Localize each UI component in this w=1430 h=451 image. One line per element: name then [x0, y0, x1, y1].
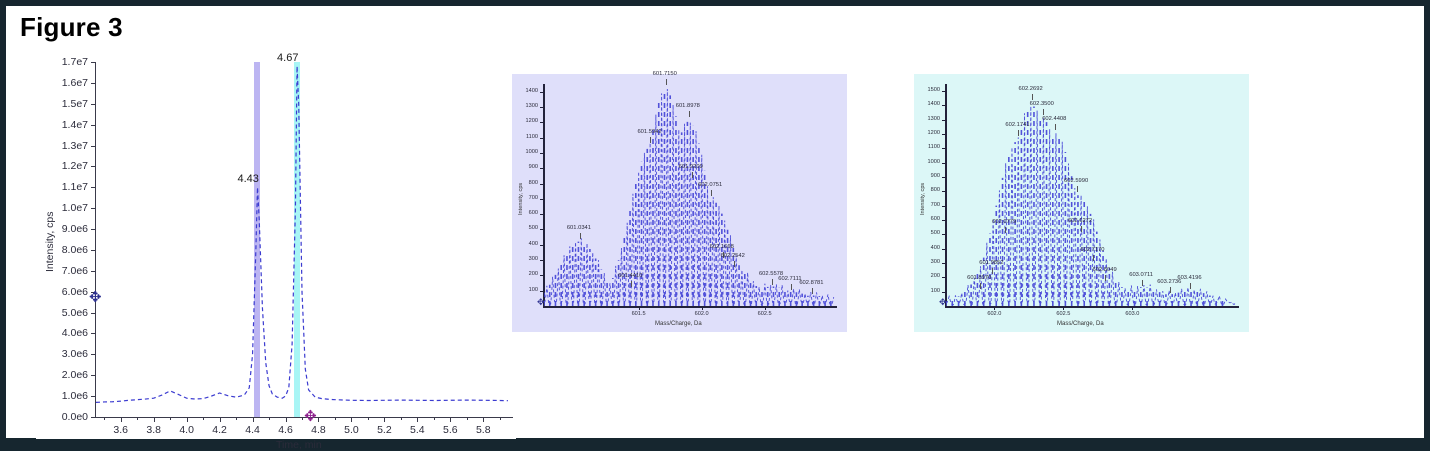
mass-spectrum-1-y-tick — [540, 168, 543, 169]
mass-spectrum-2-peak-label: 603.4196 — [1177, 275, 1201, 281]
mass-spectrum-2-peak-leader — [992, 268, 993, 274]
mass-spectrum-1-peak-label: 601.5942 — [637, 129, 661, 135]
mass-spectrum-1-y-tick — [540, 107, 543, 108]
mass-spectrum-2-y-tick-label: 200 — [914, 273, 940, 279]
mass-spectrum-1-peak-label: 601.8978 — [676, 103, 700, 109]
mass-spectrum-1-peak-label: 602.8781 — [799, 280, 823, 286]
mass-spectrum-1-y-tick-label: 1400 — [512, 88, 538, 94]
mass-spectrum-2-y-axis-title: Intensity, cps — [920, 183, 926, 215]
mass-spectrum-2-peak-leader — [1032, 94, 1033, 100]
mass-spectrum-1-y-tick — [540, 122, 543, 123]
mass-spectrum-2-y-tick — [942, 263, 945, 264]
chromatogram-y-tick — [91, 396, 95, 397]
mass-spectrum-2-y-tick-label: 1500 — [914, 87, 940, 93]
mass-spectrum-1-y-tick — [540, 291, 543, 292]
mass-spectrum-2-y-tick-label: 400 — [914, 245, 940, 251]
mass-spectrum-2-y-tick — [942, 191, 945, 192]
figure-title: Figure 3 — [20, 12, 123, 43]
mass-spectrum-2-y-tick — [942, 177, 945, 178]
mass-spectrum-2-y-tick-label: 500 — [914, 230, 940, 236]
mass-spectrum-1-y-tick — [540, 184, 543, 185]
mass-spectrum-1-y-tick-label: 1300 — [512, 103, 538, 109]
mass-spectrum-2-x-tick-label: 603.0 — [1112, 311, 1152, 317]
mass-spectrum-2-peak-leader — [1170, 287, 1171, 293]
chromatogram-y-tick-label: 1.1e7 — [36, 181, 88, 193]
mass-spectrum-2-y-tick-label: 600 — [914, 216, 940, 222]
left-axis-cursor[interactable]: ✥ — [89, 290, 102, 305]
mass-spectrum-2-y-tick-label: 1100 — [914, 144, 940, 150]
mass-spectrum-2-y-tick — [942, 220, 945, 221]
chromatogram-y-tick-label: 3.0e6 — [36, 348, 88, 360]
mass-spectrum-2-peak-leader — [1081, 226, 1082, 232]
chromatogram-y-tick — [91, 354, 95, 355]
mass-spectrum-1-y-tick — [540, 92, 543, 93]
mass-spectrum-2-y-tick — [942, 234, 945, 235]
mass-spectrum-2-peak-leader — [1055, 124, 1056, 130]
mass-spectrum-2-peak-label: 602.2692 — [1019, 86, 1043, 92]
mass-spectrum-1-x-axis-title: Mass/Charge, Da — [655, 321, 702, 327]
mass-spectrum-2-y-tick-label: 1300 — [914, 116, 940, 122]
mass-spectrum-1-peak-label: 601.7150 — [653, 71, 677, 77]
mass-spectrum-2-peak-label: 602.4408 — [1042, 116, 1066, 122]
mass-spectrum-1-y-tick-label: 900 — [512, 164, 538, 170]
mass-spectrum-1-y-tick — [540, 229, 543, 230]
mass-spectrum-1-y-tick-label: 1200 — [512, 118, 538, 124]
mass-spectrum-2-peak-label: 601.9852 — [979, 260, 1003, 266]
mass-spectrum-2-peak-leader — [980, 283, 981, 289]
chromatogram-y-axis-title: Intensity, cps — [44, 211, 56, 272]
chromatogram-y-tick-label: 2.0e6 — [36, 369, 88, 381]
chromatogram-trace — [96, 62, 514, 419]
mass-spectrum-2-y-tick — [942, 134, 945, 135]
mass-spectrum-1-y-tick-label: 500 — [512, 225, 538, 231]
mass-spectrum-2-y-tick — [942, 249, 945, 250]
mass-spectrum-1-origin-cursor[interactable]: ✥ — [537, 298, 545, 307]
chromatogram-y-tick-label: 1.2e7 — [36, 160, 88, 172]
mass-spectrum-1-y-tick — [540, 260, 543, 261]
mass-spectrum-1-y-tick — [540, 275, 543, 276]
chromatogram-x-tick-label: 5.8 — [466, 424, 500, 436]
mass-spectrum-2-peak-label: 602.0779 — [992, 219, 1016, 225]
mass-spectrum-1-peak-leader — [689, 111, 690, 117]
mass-spectrum-2-peak-leader — [1142, 280, 1143, 286]
mass-spectrum-1-peak-leader — [692, 172, 693, 178]
mass-spectrum-2-peak-label: 602.5990 — [1064, 178, 1088, 184]
mass-spectrum-2-y-tick — [942, 120, 945, 121]
chromatogram-x-tick-label: 4.0 — [170, 424, 204, 436]
mass-spectrum-1-peak-label: 602.2542 — [721, 253, 745, 259]
chromatogram-y-tick-label: 1.3e7 — [36, 140, 88, 152]
chromatogram-x-tick-label: 4.4 — [236, 424, 270, 436]
mass-spectrum-2-y-tick-label: 900 — [914, 173, 940, 179]
mass-spectrum-2-y-tick — [942, 148, 945, 149]
mass-spectrum-2-peak-leader — [1005, 227, 1006, 233]
mass-spectrum-1-x-tick-label: 601.5 — [619, 311, 659, 317]
mass-spectrum-2-peak-label: 602.6272 — [1068, 218, 1092, 224]
mass-spectrum-2-peak-leader — [1190, 283, 1191, 289]
mass-spectrum-1-peak-leader — [812, 288, 813, 294]
mass-spectrum-1-peak-label: 601.0341 — [567, 225, 591, 231]
chromatogram-y-tick — [91, 417, 95, 418]
mass-spectrum-1-peak-leader — [631, 281, 632, 287]
mass-spectrum-2-y-tick-label: 100 — [914, 288, 940, 294]
mass-spectrum-1-peak-leader — [791, 284, 792, 290]
chromatogram-y-tick — [91, 146, 95, 147]
mass-spectrum-1-y-axis-title: Intensity, cps — [518, 183, 524, 215]
mass-spectrum-1-y-tick-label: 100 — [512, 287, 538, 293]
mass-spectrum-1-y-tick-label: 400 — [512, 241, 538, 247]
mass-spectrum-2-panel: 1002003004005006007008009001000110012001… — [914, 74, 1249, 332]
chromatogram-x-tick-label: 4.2 — [203, 424, 237, 436]
mass-spectrum-1-peak-label: 602.7111 — [778, 276, 801, 282]
mass-spectrum-1-y-tick — [540, 214, 543, 215]
mass-spectrum-2-peak-label: 602.7170 — [1080, 247, 1104, 253]
mass-spectrum-1-panel: 1002003004005006007008009001000110012001… — [512, 74, 847, 332]
mass-spectrum-2-y-tick-label: 800 — [914, 187, 940, 193]
chromatogram-x-tick-label: 4.8 — [301, 424, 335, 436]
mass-spectrum-2-y-tick — [942, 105, 945, 106]
mass-spectrum-1-x-tick-label: 602.0 — [682, 311, 722, 317]
mass-spectrum-2-peak-leader — [1093, 255, 1094, 261]
mass-spectrum-1-peak-leader — [772, 279, 773, 285]
chromatogram-panel: 0.0e01.0e62.0e63.0e64.0e65.0e66.0e67.0e6… — [36, 54, 516, 439]
baseline-cursor[interactable]: ✥ — [304, 409, 317, 424]
mass-spectrum-1-x-tick-label: 602.5 — [745, 311, 785, 317]
mass-spectrum-2-y-tick — [942, 206, 945, 207]
chromatogram-y-tick-label: 6.0e6 — [36, 286, 88, 298]
mass-spectrum-2-peak-label: 603.0711 — [1129, 272, 1153, 278]
chromatogram-y-tick — [91, 313, 95, 314]
chromatogram-x-tick-label: 4.6 — [269, 424, 303, 436]
chromatogram-y-tick-label: 1.6e7 — [36, 77, 88, 89]
mass-spectrum-1-peak-leader — [711, 190, 712, 196]
mass-spectrum-1-y-tick-label: 1000 — [512, 149, 538, 155]
chromatogram-y-tick — [91, 208, 95, 209]
chromatogram-y-tick — [91, 375, 95, 376]
mass-spectrum-2-y-tick-label: 1200 — [914, 130, 940, 136]
mass-spectrum-2-x-tick-label: 602.5 — [1043, 311, 1083, 317]
mass-spectrum-2-peak-label: 601.8970 — [967, 275, 991, 281]
mass-spectrum-2-y-tick-label: 1000 — [914, 159, 940, 165]
chromatogram-x-tick-label: 5.4 — [400, 424, 434, 436]
mass-spectrum-2-peak-leader — [1077, 186, 1078, 192]
mass-spectrum-2-peak-leader — [1105, 275, 1106, 281]
mass-spectrum-2-peak-leader — [1018, 130, 1019, 136]
chromatogram-x-tick-label: 3.8 — [137, 424, 171, 436]
mass-spectrum-1-y-tick — [540, 245, 543, 246]
mass-spectrum-1-peak-leader — [666, 79, 667, 85]
mass-spectrum-1-peak-label: 602.0751 — [698, 182, 722, 188]
mass-spectrum-1-y-tick-label: 800 — [512, 180, 538, 186]
mass-spectrum-2-y-tick-label: 300 — [914, 259, 940, 265]
chromatogram-y-tick — [91, 104, 95, 105]
mass-spectrum-2-peak-label: 602.1741 — [1005, 122, 1029, 128]
chromatogram-peak-label: 4.43 — [238, 173, 259, 185]
mass-spectrum-2-y-tick-label: 1400 — [914, 101, 940, 107]
chromatogram-y-tick-label: 1.4e7 — [36, 119, 88, 131]
mass-spectrum-2-y-tick-label: 700 — [914, 202, 940, 208]
mass-spectrum-1-peak-leader — [734, 261, 735, 267]
figure-page: Figure 3 0.0e01.0e62.0e63.0e64.0e65.0e66… — [6, 6, 1424, 438]
mass-spectrum-1-peak-label: 602.1668 — [710, 244, 734, 250]
mass-spectrum-2-y-tick — [942, 163, 945, 164]
chromatogram-peak-label: 4.67 — [277, 52, 298, 64]
chromatogram-y-tick-label: 5.0e6 — [36, 307, 88, 319]
chromatogram-x-axis-title: Time, min — [276, 439, 322, 451]
chromatogram-x-tick-label: 5.6 — [433, 424, 467, 436]
chromatogram-y-tick — [91, 229, 95, 230]
mass-spectrum-2-peak-label: 602.8049 — [1092, 267, 1116, 273]
chromatogram-y-tick — [91, 271, 95, 272]
chromatogram-y-tick — [91, 83, 95, 84]
mass-spectrum-1-peak-leader — [580, 233, 581, 239]
mass-spectrum-2-y-tick — [942, 277, 945, 278]
chromatogram-y-tick — [91, 125, 95, 126]
mass-spectrum-1-y-tick-label: 300 — [512, 256, 538, 262]
mass-spectrum-1-peak-label: 601.4410 — [618, 273, 642, 279]
chromatogram-y-tick-label: 0.0e0 — [36, 411, 88, 423]
chromatogram-x-tick-label: 5.2 — [367, 424, 401, 436]
chromatogram-y-tick — [91, 333, 95, 334]
chromatogram-x-tick-label: 5.0 — [334, 424, 368, 436]
mass-spectrum-2-origin-cursor[interactable]: ✥ — [939, 298, 947, 307]
chromatogram-y-tick-label: 1.5e7 — [36, 98, 88, 110]
mass-spectrum-2-y-tick — [942, 91, 945, 92]
chromatogram-y-tick — [91, 166, 95, 167]
mass-spectrum-1-y-tick — [540, 199, 543, 200]
mass-spectrum-2-y-tick — [942, 292, 945, 293]
mass-spectrum-1-peak-label: 601.9209 — [679, 164, 703, 170]
chromatogram-y-tick — [91, 62, 95, 63]
mass-spectrum-2-x-axis-title: Mass/Charge, Da — [1057, 321, 1104, 327]
mass-spectrum-1-peak-leader — [650, 137, 651, 143]
chromatogram-y-tick-label: 1.0e6 — [36, 390, 88, 402]
mass-spectrum-1-y-tick — [540, 153, 543, 154]
mass-spectrum-1-y-tick-label: 700 — [512, 195, 538, 201]
mass-spectrum-2-x-tick-label: 602.0 — [974, 311, 1014, 317]
chromatogram-y-tick — [91, 187, 95, 188]
mass-spectrum-1-trace — [544, 84, 838, 308]
mass-spectrum-1-y-tick — [540, 138, 543, 139]
mass-spectrum-1-y-tick-label: 200 — [512, 271, 538, 277]
chromatogram-y-tick — [91, 250, 95, 251]
mass-spectrum-1-y-tick-label: 1100 — [512, 134, 538, 140]
chromatogram-x-tick-label: 3.6 — [104, 424, 138, 436]
mass-spectrum-2-peak-leader — [1043, 109, 1044, 115]
chromatogram-y-tick-label: 1.7e7 — [36, 56, 88, 68]
mass-spectrum-2-peak-label: 602.3500 — [1030, 101, 1054, 107]
chromatogram-y-tick-label: 4.0e6 — [36, 327, 88, 339]
mass-spectrum-1-y-tick-label: 600 — [512, 210, 538, 216]
